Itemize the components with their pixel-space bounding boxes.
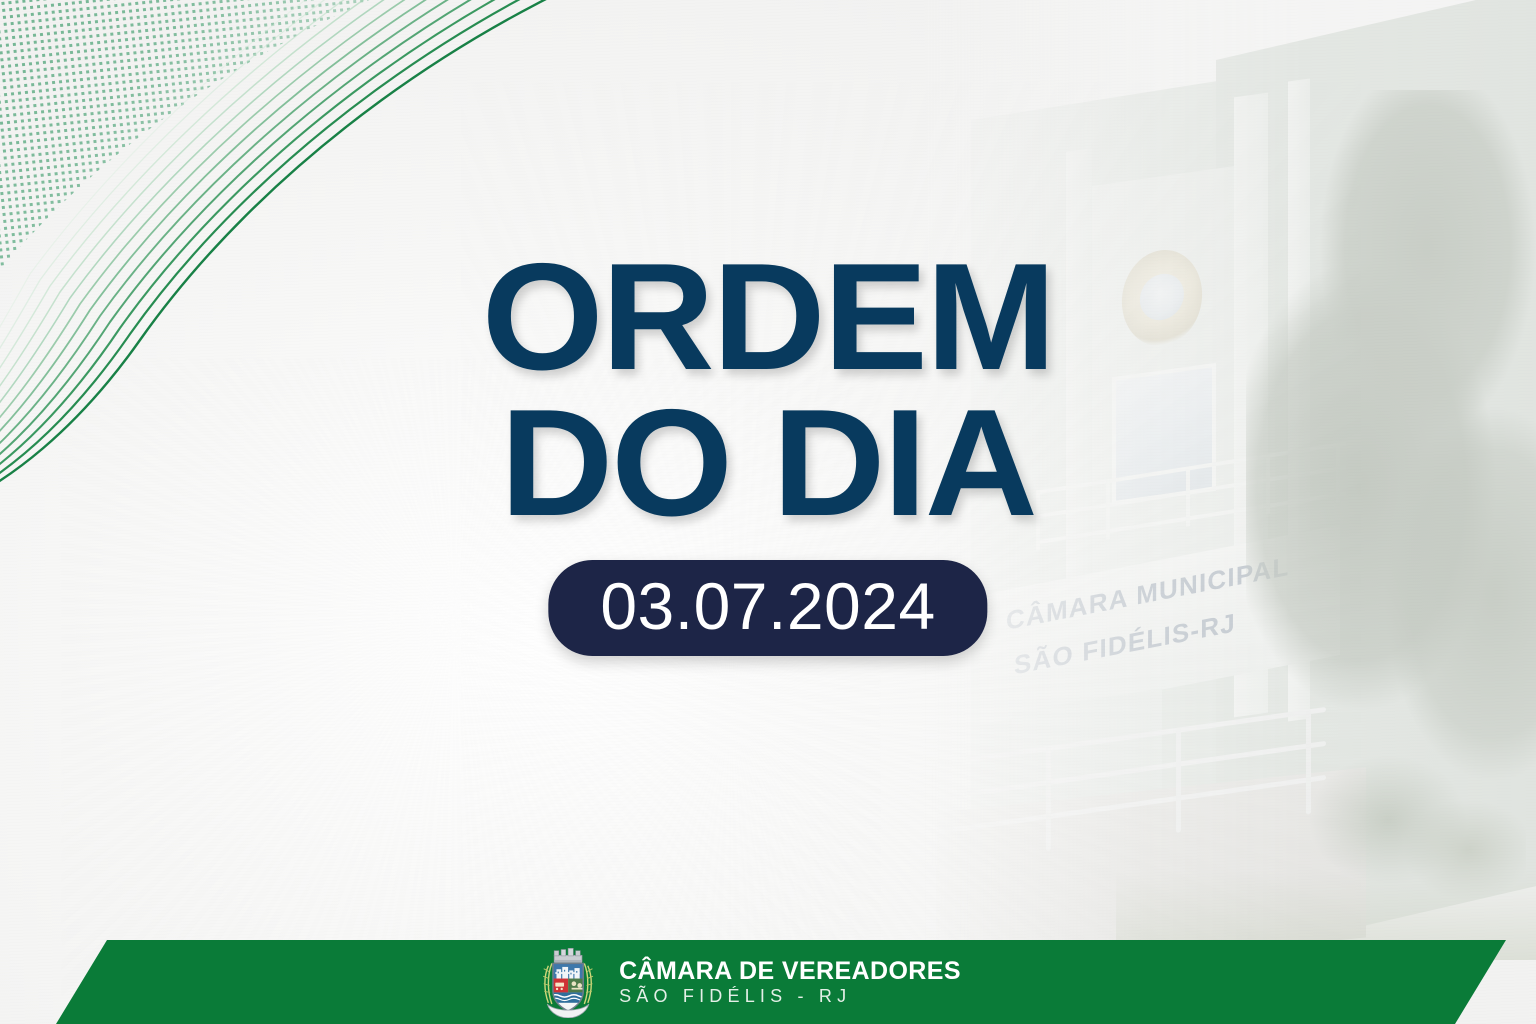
footer-content: CÂMARA DE VEREADORES SÃO FIDÉLIS - RJ <box>539 946 961 1018</box>
coat-of-arms-icon <box>539 946 597 1018</box>
footer-text-block: CÂMARA DE VEREADORES SÃO FIDÉLIS - RJ <box>619 957 961 1008</box>
poster-canvas: CÂMARA MUNICIPAL SÃO FIDÉLIS-RJ <box>0 0 1536 1024</box>
headline-line-2: DO DIA <box>0 394 1536 534</box>
date-badge: 03.07.2024 <box>548 560 987 656</box>
footer-org-name: CÂMARA DE VEREADORES <box>619 957 961 985</box>
headline-block: ORDEM DO DIA <box>0 248 1536 534</box>
footer-bar: CÂMARA DE VEREADORES SÃO FIDÉLIS - RJ <box>0 940 1536 1024</box>
headline-line-1: ORDEM <box>0 248 1536 388</box>
footer-org-location: SÃO FIDÉLIS - RJ <box>619 985 961 1008</box>
